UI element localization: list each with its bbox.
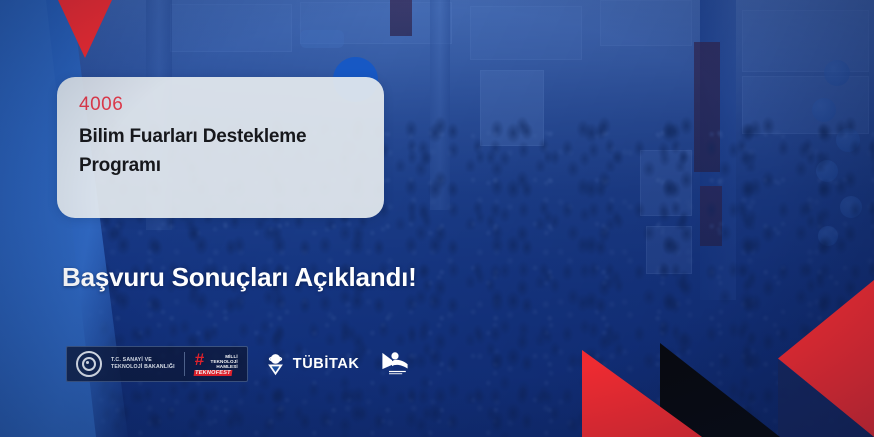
tubitak-logo-block: TÜBİTAK (264, 353, 360, 376)
teknofest-sub-line3: HAMLESİ (211, 364, 238, 369)
banner-root: 4006 Bilim Fuarları Destekleme Programı … (0, 0, 874, 437)
teknofest-subtext: MİLLİ TEKNOLOJİ HAMLESİ (211, 354, 238, 369)
logo-strip: T.C. SANAYİ VE TEKNOLOJİ BAKANLIĞI # TEK… (66, 345, 410, 383)
ministry-logo-line1: T.C. SANAYİ VE (111, 357, 175, 364)
logo-divider (184, 352, 185, 376)
ministry-seal-icon (76, 351, 102, 377)
meb-logo-icon (380, 351, 410, 377)
ministry-logo-block: T.C. SANAYİ VE TEKNOLOJİ BAKANLIĞI # TEK… (66, 346, 248, 382)
teknofest-logo-icon: # TEKNOFEST MİLLİ TEKNOLOJİ HAMLESİ (194, 351, 238, 377)
program-title: Bilim Fuarları Destekleme Programı (79, 122, 369, 180)
program-code: 4006 (79, 94, 123, 116)
ministry-logo-text: T.C. SANAYİ VE TEKNOLOJİ BAKANLIĞI (111, 357, 175, 371)
teknofest-hash-glyph: # (195, 351, 204, 368)
program-info-card: 4006 Bilim Fuarları Destekleme Programı (57, 77, 384, 218)
tubitak-mark-icon (264, 353, 287, 376)
teknofest-wordmark: TEKNOFEST (193, 370, 232, 376)
tubitak-wordmark: TÜBİTAK (293, 356, 360, 372)
ministry-logo-line2: TEKNOLOJİ BAKANLIĞI (111, 364, 175, 371)
headline-text: Başvuru Sonuçları Açıklandı! (62, 262, 417, 293)
